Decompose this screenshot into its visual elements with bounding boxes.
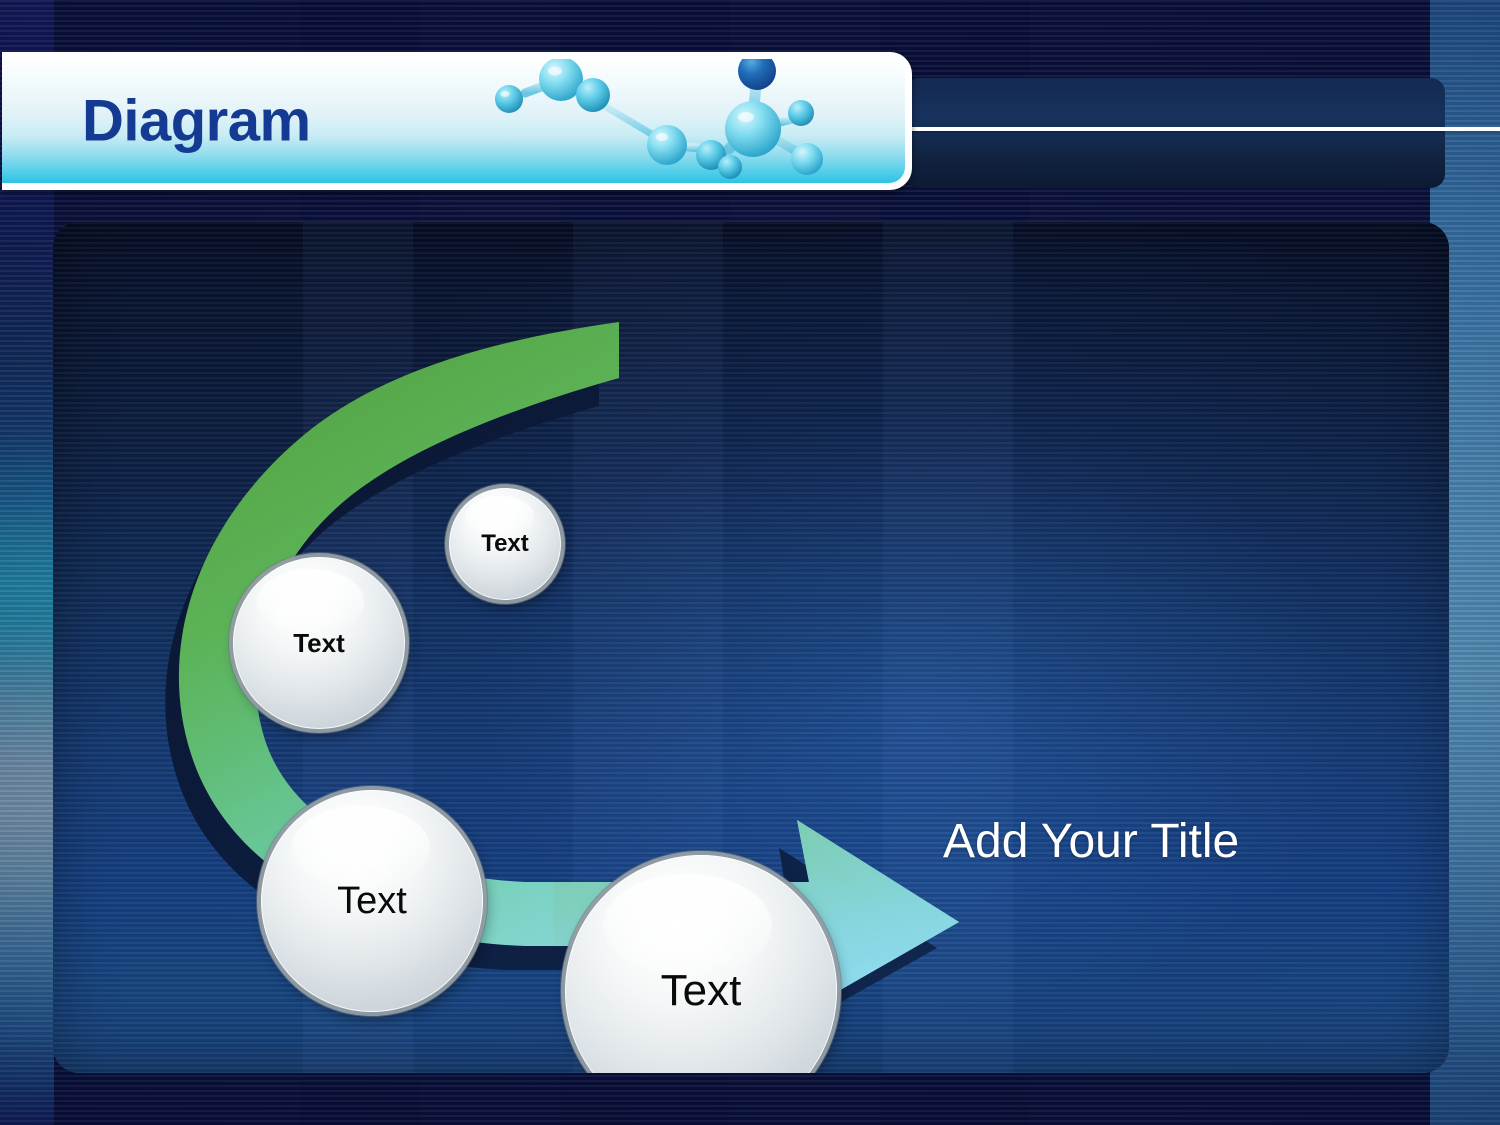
header-backing-plate <box>905 78 1445 188</box>
node-circle-1[interactable]: Text <box>449 488 561 600</box>
page-title: Diagram <box>82 88 311 155</box>
body-title[interactable]: Add Your Title <box>943 814 1239 869</box>
title-bar: Diagram <box>2 52 912 190</box>
node-label-2: Text <box>293 628 345 659</box>
node-circle-2[interactable]: Text <box>233 557 405 729</box>
node-label-3: Text <box>337 880 407 923</box>
title-bar-inner: Diagram <box>2 59 905 183</box>
content-panel: Text Text Text Text Add Your Title <box>53 222 1449 1073</box>
molecule-icon <box>485 59 905 183</box>
slide: Diagram <box>0 0 1500 1125</box>
node-circle-3[interactable]: Text <box>261 790 483 1012</box>
header-divider-rule <box>905 127 1500 131</box>
node-label-4: Text <box>661 966 742 1016</box>
node-label-1: Text <box>481 530 529 558</box>
